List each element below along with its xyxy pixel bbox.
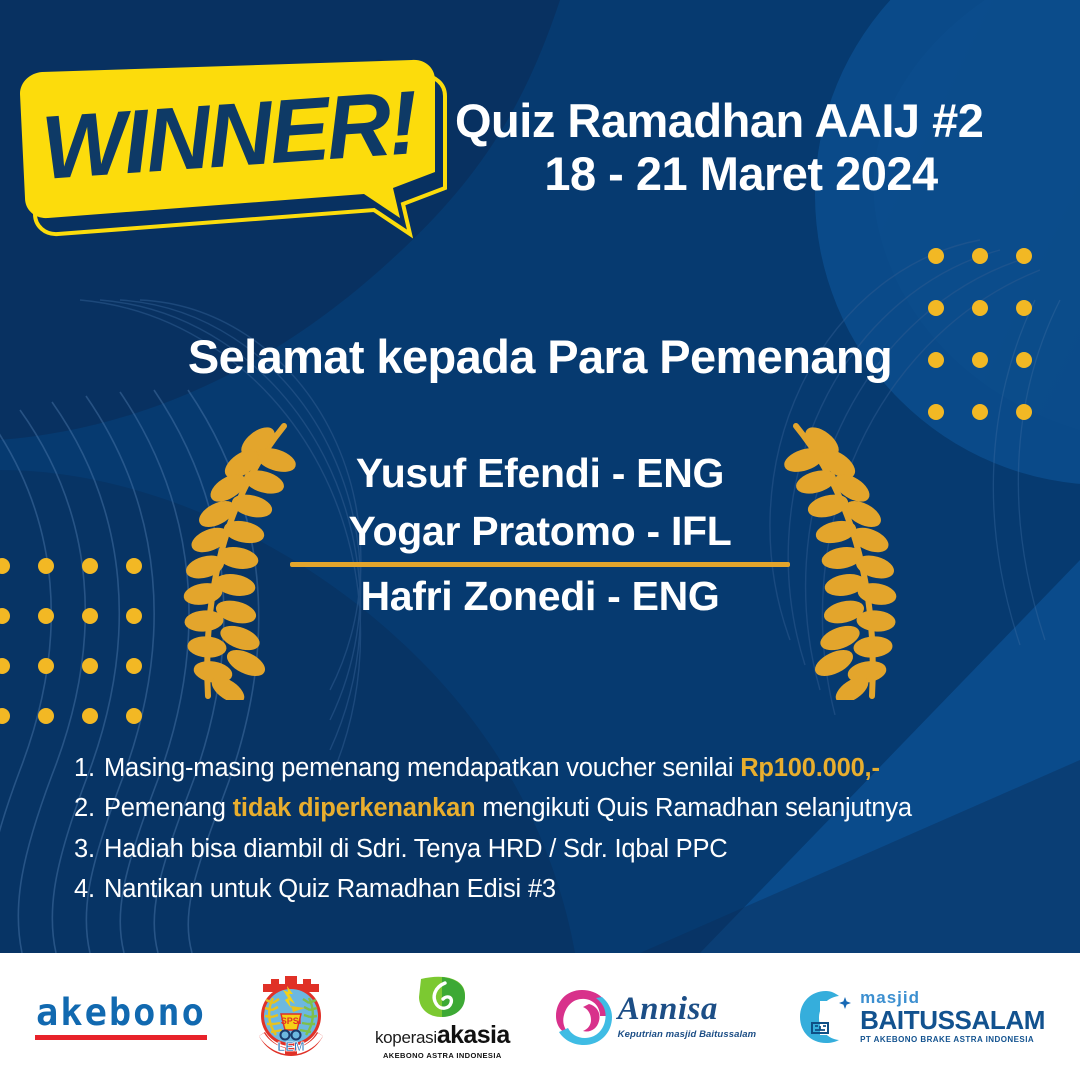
dot	[928, 300, 944, 316]
dot	[928, 404, 944, 420]
akasia-wordmark-row: koperasi akasia	[375, 1021, 510, 1050]
note-item: 1. Masing-masing pemenang mendapatkan vo…	[74, 748, 1020, 788]
footer-logo-bar: akebono	[0, 953, 1080, 1080]
akebono-wordmark: akebono	[36, 994, 206, 1031]
note-highlight: Rp100.000,-	[740, 754, 880, 782]
note-number: 1.	[74, 748, 104, 788]
masjid-baitussalam-logo: masjid BAITUSSALAM PT AKEBONO BRAKE ASTR…	[798, 989, 1045, 1045]
note-text: Nantikan untuk Quiz Ramadhan Edisi #3	[104, 869, 556, 909]
dot	[82, 708, 98, 724]
annisa-text: Annisa Keputrian masjid Baitussalam	[618, 993, 756, 1040]
masjid-wordmark: BAITUSSALAM	[860, 1007, 1045, 1033]
note-text: Masing-masing pemenang mendapatkan vouch…	[104, 748, 880, 788]
note-text: Pemenang tidak diperkenankan mengikuti Q…	[104, 788, 912, 828]
dot	[126, 708, 142, 724]
masjid-text: masjid BAITUSSALAM PT AKEBONO BRAKE ASTR…	[860, 989, 1045, 1044]
dot	[972, 404, 988, 420]
masjid-small-label: masjid	[860, 989, 1045, 1006]
koperasi-akasia-logo: koperasi akasia AKEBONO ASTRA INDONESIA	[375, 973, 510, 1060]
lem-label: LEM	[277, 1039, 304, 1054]
akebono-logo: akebono	[35, 994, 207, 1040]
dot	[972, 300, 988, 316]
dot	[1016, 248, 1032, 264]
winner-name: Hafri Zonedi - ENG	[290, 567, 790, 625]
spsi-lem-emblem-icon: SPSI LEM	[249, 972, 333, 1062]
header-title: Quiz Ramadhan AAIJ #2 18 - 21 Maret 2024	[455, 95, 1055, 200]
title-line-1: Quiz Ramadhan AAIJ #2	[455, 95, 1055, 148]
spsi-label: SPSI	[281, 1016, 302, 1026]
annisa-logo: Annisa Keputrian masjid Baitussalam	[552, 988, 756, 1046]
winner-names-list: Yusuf Efendi - ENG Yogar Pratomo - IFL H…	[290, 444, 790, 626]
akasia-subtitle: AKEBONO ASTRA INDONESIA	[383, 1051, 502, 1060]
notes-list: 1. Masing-masing pemenang mendapatkan vo…	[74, 748, 1020, 909]
winner-badge: WINNER!	[18, 58, 448, 258]
akebono-underline	[35, 1035, 207, 1040]
masjid-subtitle: PT AKEBONO BRAKE ASTRA INDONESIA	[860, 1036, 1045, 1044]
annisa-hijab-icon	[552, 988, 614, 1046]
congratulation-heading: Selamat kepada Para Pemenang	[0, 329, 1080, 384]
winners-section: Yusuf Efendi - ENG Yogar Pratomo - IFL H…	[0, 420, 1080, 700]
winner-name: Yogar Pratomo - IFL	[290, 502, 790, 560]
title-line-2: 18 - 21 Maret 2024	[455, 148, 1055, 201]
winner-poster: WINNER! Quiz Ramadhan AAIJ #2 18 - 21 Ma…	[0, 0, 1080, 1080]
dot	[1016, 404, 1032, 420]
akasia-prefix: koperasi	[375, 1028, 437, 1048]
akasia-wordmark: akasia	[437, 1021, 510, 1050]
laurel-branch-right-icon	[778, 420, 908, 700]
akasia-leaf-icon	[415, 973, 469, 1019]
dot	[928, 248, 944, 264]
note-highlight: tidak diperkenankan	[233, 794, 476, 822]
dot	[38, 708, 54, 724]
spsi-lem-logo: SPSI LEM	[249, 972, 333, 1062]
dot	[972, 248, 988, 264]
annisa-wordmark: Annisa	[618, 993, 756, 1026]
dot	[0, 708, 10, 724]
note-text: Hadiah bisa diambil di Sdri. Tenya HRD /…	[104, 829, 728, 869]
note-item: 3. Hadiah bisa diambil di Sdri. Tenya HR…	[74, 829, 1020, 869]
dot	[1016, 300, 1032, 316]
winner-badge-graphic: WINNER!	[18, 58, 448, 258]
winner-name: Yusuf Efendi - ENG	[290, 444, 790, 502]
note-item: 4. Nantikan untuk Quiz Ramadhan Edisi #3	[74, 869, 1020, 909]
note-number: 4.	[74, 869, 104, 909]
laurel-branch-left-icon	[172, 420, 302, 700]
note-number: 3.	[74, 829, 104, 869]
note-item: 2. Pemenang tidak diperkenankan mengikut…	[74, 788, 1020, 828]
masjid-mosque-icon	[798, 989, 854, 1045]
annisa-subtitle: Keputrian masjid Baitussalam	[618, 1029, 756, 1040]
note-number: 2.	[74, 788, 104, 828]
